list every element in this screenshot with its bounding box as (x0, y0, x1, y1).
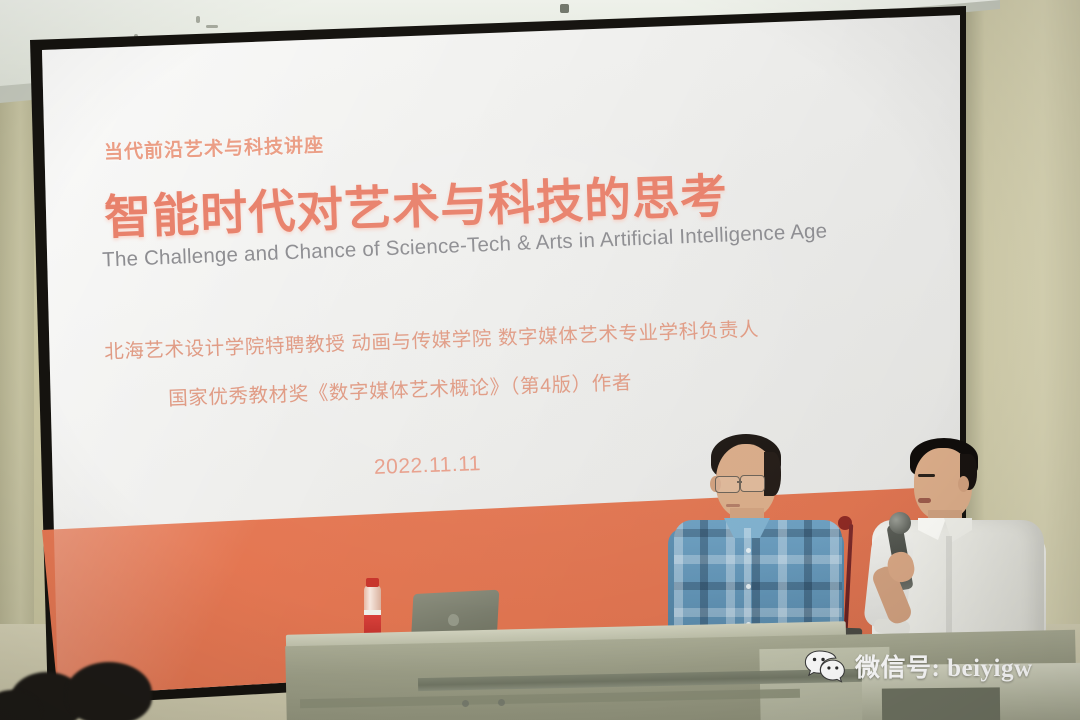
slide-kicker: 当代前沿艺术与科技讲座 (104, 130, 325, 164)
glasses-icon (740, 475, 765, 492)
side-table-front (882, 687, 1000, 720)
slide-presenter-line-1: 北海艺术设计学院特聘教授 动画与传媒学院 数字媒体艺术专业学科负责人 (104, 313, 760, 365)
speaker-left-mouth (726, 504, 740, 507)
speaker-left-hair-side (764, 452, 781, 496)
speaker-right-brow (918, 474, 935, 477)
audience-head (66, 662, 152, 720)
slide-presenter-line-2: 国家优秀教材奖《数字媒体艺术概论》（第4版）作者 (168, 366, 633, 411)
water-bottle-cap (366, 578, 379, 587)
lecture-hall-photo: 当代前沿艺术与科技讲座 智能时代对艺术与科技的思考 The Challenge … (0, 0, 1080, 720)
speaker-right-ear (958, 476, 969, 492)
laptop-logo-icon (448, 614, 460, 627)
shirt-button (746, 584, 751, 589)
glasses-bridge (737, 481, 742, 483)
podium-knob (462, 700, 469, 707)
slide-date: 2022.11.11 (374, 452, 482, 480)
glasses-icon (715, 476, 740, 493)
speaker-right-mouth (918, 498, 931, 503)
podium-knob (498, 699, 505, 706)
shirt-button (746, 548, 751, 553)
